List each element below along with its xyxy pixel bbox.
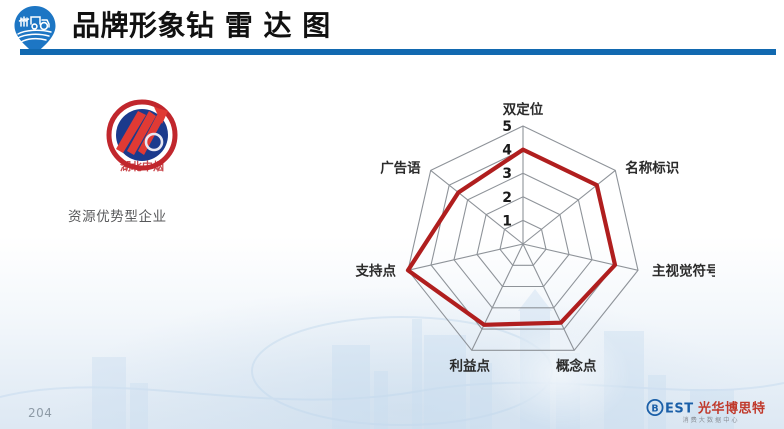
axis-label-5: 支持点 (355, 262, 396, 279)
axis-label-6: 广告语 (380, 159, 421, 176)
company-logo: 湖北中烟 (96, 97, 188, 179)
svg-text:湖北中烟: 湖北中烟 (120, 159, 164, 173)
company-caption: 资源优势型企业 (68, 205, 167, 225)
axis-label-2: 主视觉符号 (652, 262, 715, 279)
axis-label-3: 概念点 (556, 357, 597, 374)
axis-label-0: 双定位 (503, 101, 544, 118)
axis-labels: 双定位名称标识主视觉符号概念点利益点支持点广告语 (355, 101, 715, 374)
page-title: 品牌形象钻 雷 达 图 (72, 6, 331, 46)
slide-canvas: 品牌形象钻 雷 达 图 湖北中烟 资源优势型企业 12345 双定位名称标识主视… (0, 0, 784, 429)
radar-axis-spoke (523, 244, 574, 350)
svg-text:EST: EST (665, 402, 694, 417)
page-number: 204 (28, 406, 52, 420)
svg-text:B: B (651, 404, 658, 415)
axis-label-4: 利益点 (450, 357, 491, 374)
radial-tick-4: 4 (502, 143, 512, 159)
radial-tick-1: 1 (502, 213, 512, 229)
radial-tick-5: 5 (502, 119, 512, 135)
header-divider (20, 49, 776, 55)
radial-tick-2: 2 (502, 190, 512, 206)
radar-chart: 12345 双定位名称标识主视觉符号概念点利益点支持点广告语 (355, 82, 715, 382)
radar-axis-spoke (472, 244, 523, 350)
slide-header: 品牌形象钻 雷 达 图 (0, 0, 784, 58)
best-brand-logo: B EST 光华博思特 消 费 大 数 据 中 心 (644, 398, 776, 424)
svg-text:消 费 大 数 据 中 心: 消 费 大 数 据 中 心 (682, 416, 737, 424)
svg-text:光华博思特: 光华博思特 (697, 401, 766, 417)
axis-label-1: 名称标识 (625, 159, 679, 176)
radial-tick-3: 3 (502, 166, 512, 182)
